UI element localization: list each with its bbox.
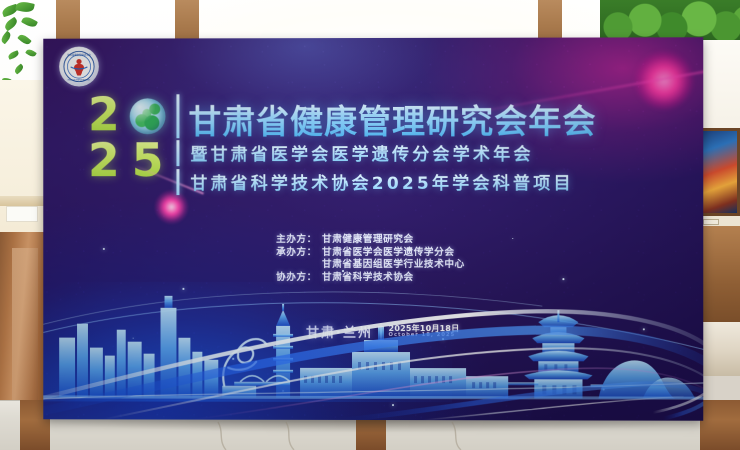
pink-spark-icon — [155, 190, 189, 224]
conference-backdrop-banner: 甘肃省健康管理研究会 HEALTH MANAGEMENT 2 2 5 甘肃省健康… — [43, 37, 703, 420]
banner-main-title: 甘肃省健康管理研究会年会 — [188, 95, 596, 144]
organizer-row: 主办方： 甘肃健康管理研究会 — [276, 234, 465, 247]
painting-plaque — [703, 219, 719, 225]
organizer-label: 承办方： — [276, 247, 322, 260]
svg-text:甘肃省健康管理研究会: 甘肃省健康管理研究会 — [67, 53, 91, 57]
cityscape-glow — [43, 282, 452, 402]
plant-hedge-right — [600, 0, 740, 40]
svg-text:HEALTH MANAGEMENT: HEALTH MANAGEMENT — [68, 79, 91, 82]
organizer-name: 甘肃省基因组医学行业技术中心 — [322, 259, 465, 272]
organizer-list: 主办方： 甘肃健康管理研究会 承办方： 甘肃省医学会医学遗传学分会 承办方： 甘… — [276, 234, 465, 284]
globe-icon — [130, 98, 166, 134]
banner-subtitle-2: 甘肃省科学技术协会2025年学会科普项目 — [190, 169, 573, 194]
title-divider-bar — [176, 169, 179, 195]
banner-subtitle-1: 暨甘肃省医学会医学遗传分会学术年会 — [190, 140, 533, 165]
organizer-row: 承办方： 甘肃省医学会医学遗传学分会 — [276, 247, 465, 260]
organizer-name: 甘肃省医学会医学遗传学分会 — [322, 247, 455, 260]
year-digit: 2 — [88, 140, 120, 180]
left-shelf-card — [6, 206, 38, 222]
title-divider-bar — [176, 140, 179, 166]
organizer-row: 承办方： 甘肃省基因组医学行业技术中心 — [276, 259, 465, 272]
year-digit: 2 — [88, 94, 120, 134]
logo-emblem-icon: 甘肃省健康管理研究会 HEALTH MANAGEMENT — [62, 50, 96, 84]
organizer-name: 甘肃健康管理研究会 — [322, 234, 414, 247]
title-divider-bar — [176, 94, 179, 138]
framed-painting — [700, 128, 740, 216]
association-logo: 甘肃省健康管理研究会 HEALTH MANAGEMENT — [59, 47, 99, 87]
organizer-label: 主办方： — [276, 234, 322, 247]
